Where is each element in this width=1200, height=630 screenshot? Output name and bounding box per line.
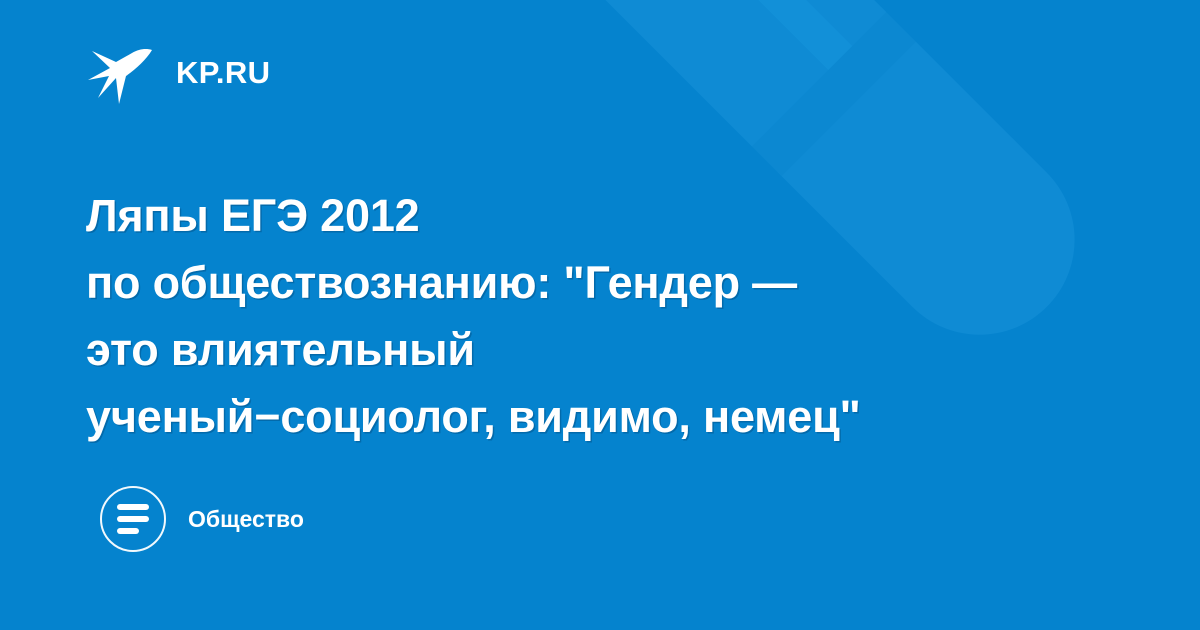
headline-line-2: по обществознанию: "Гендер — — [86, 249, 1126, 316]
menu-bar-3 — [117, 528, 139, 534]
headline-line-4: ученый−социолог, видимо, немец" — [86, 383, 1126, 450]
hamburger-menu-icon[interactable] — [100, 486, 166, 552]
swallow-bird-icon — [86, 36, 158, 108]
menu-bar-2 — [117, 516, 149, 522]
category-label: Общество — [188, 508, 304, 531]
brand-name: KP.RU — [176, 57, 270, 88]
headline-line-1: Ляпы ЕГЭ 2012 — [86, 182, 1126, 249]
brand-logo[interactable]: KP.RU — [86, 36, 270, 108]
headline-line-3: это влиятельный — [86, 316, 1126, 383]
social-share-card: KP.RU Ляпы ЕГЭ 2012 по обществознанию: "… — [0, 0, 1200, 630]
headline: Ляпы ЕГЭ 2012 по обществознанию: "Гендер… — [86, 182, 1126, 450]
category-badge[interactable]: Общество — [100, 486, 304, 552]
menu-bar-1 — [117, 504, 149, 510]
